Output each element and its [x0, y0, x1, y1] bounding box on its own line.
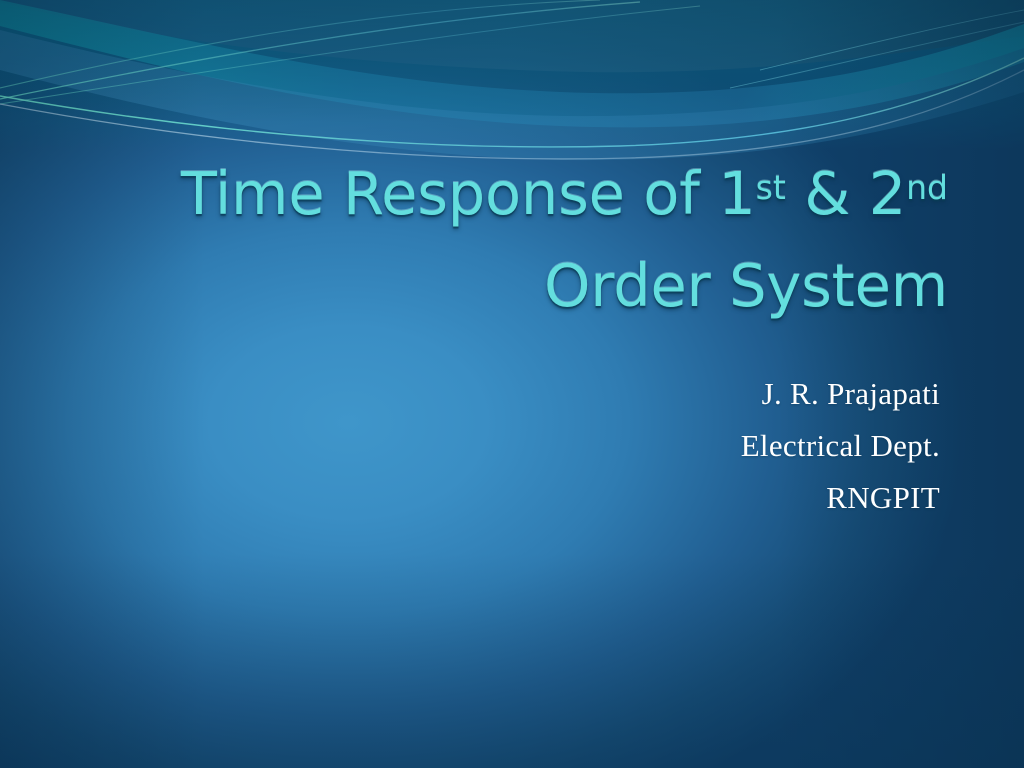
- title-text-mid: & 2: [786, 159, 906, 228]
- title-superscript-nd: nd: [906, 168, 948, 207]
- title-superscript-st: st: [756, 168, 786, 207]
- slide-subtitle: J. R. Prajapati Electrical Dept. RNGPIT: [330, 368, 940, 524]
- slide-title-line-2: Order System: [80, 244, 948, 327]
- title-text-prefix: Time Response of 1: [181, 159, 756, 228]
- subtitle-line-institute: RNGPIT: [330, 472, 940, 524]
- subtitle-line-department: Electrical Dept.: [330, 420, 940, 472]
- subtitle-line-author: J. R. Prajapati: [330, 368, 940, 420]
- presentation-slide: Time Response of 1st & 2nd Order System …: [0, 0, 1024, 768]
- slide-title-line-1: Time Response of 1st & 2nd: [80, 152, 948, 244]
- slide-title: Time Response of 1st & 2nd Order System: [80, 152, 948, 327]
